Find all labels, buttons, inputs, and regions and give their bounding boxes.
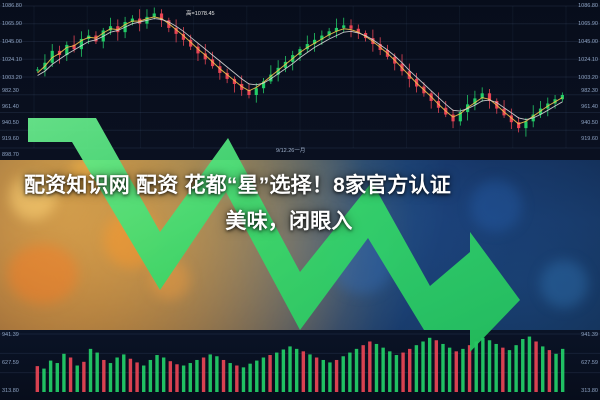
- headline-overlay: 配资知识网 配资 花都“星”选择！8家官方认证 美味，闭眼入: [24, 168, 580, 240]
- screenshot-stage: 1086.80 1065.90 1045.00 1024.10 1003.20 …: [0, 0, 600, 400]
- headline-line-1: 配资知识网 配资 花都“星”选择！8家官方认证: [24, 174, 451, 197]
- headline-line-2: 美味，闭眼入: [24, 204, 580, 240]
